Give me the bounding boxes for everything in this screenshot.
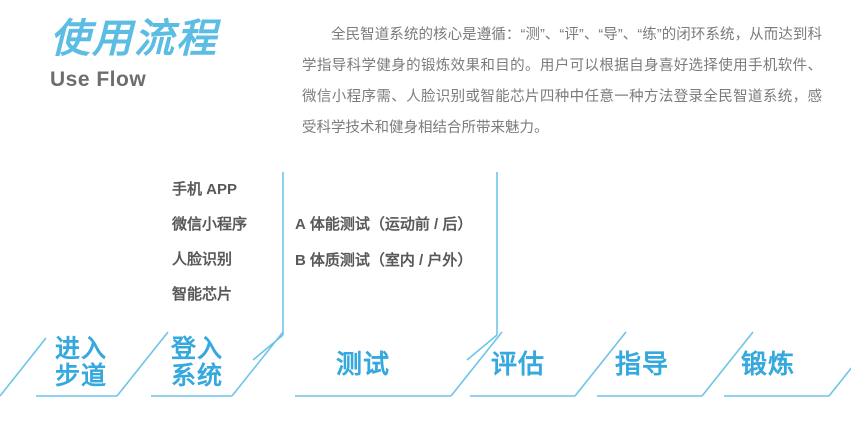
separator-diagonal-0 <box>0 338 46 396</box>
flow-step-5-line1: 指导 <box>603 350 681 378</box>
flow-step-5[interactable]: 指导 <box>603 350 681 378</box>
flow-step-6-line1: 锻炼 <box>729 350 807 378</box>
flow-step-1-line2: 步道 <box>42 363 120 390</box>
flow-step-3[interactable]: 测试 <box>324 350 402 378</box>
flow-step-1-line1: 进入 <box>42 336 120 363</box>
header-title-block: 使用流程 Use Flow <box>50 18 300 92</box>
page-title-en: Use Flow <box>50 68 300 92</box>
flow-step-2-line2: 系统 <box>158 363 236 390</box>
flow-step-4[interactable]: 评估 <box>479 350 557 378</box>
use-flow-infographic: 使用流程 Use Flow 全民智道系统的核心是遵循：“测”、“评”、“导”、“… <box>0 0 851 442</box>
flow-bar-lines <box>0 150 851 442</box>
flow-steps-bar: 进入 步道 登入 系统 测试 评估 指导 锻炼 <box>0 150 851 442</box>
intro-paragraph: 全民智道系统的核心是遵循：“测”、“评”、“导”、“练”的闭环系统，从而达到科学… <box>302 20 822 144</box>
flow-step-6[interactable]: 锻炼 <box>729 350 807 378</box>
flow-step-2[interactable]: 登入 系统 <box>158 336 236 390</box>
flow-step-3-line1: 测试 <box>324 350 402 378</box>
separator-diagonal-6 <box>829 332 851 396</box>
flow-step-2-line1: 登入 <box>158 336 236 363</box>
flow-step-1[interactable]: 进入 步道 <box>42 336 120 390</box>
flow-step-4-line1: 评估 <box>479 350 557 378</box>
page-title-cn: 使用流程 <box>50 18 300 60</box>
separator-diagonal-2 <box>232 332 283 396</box>
